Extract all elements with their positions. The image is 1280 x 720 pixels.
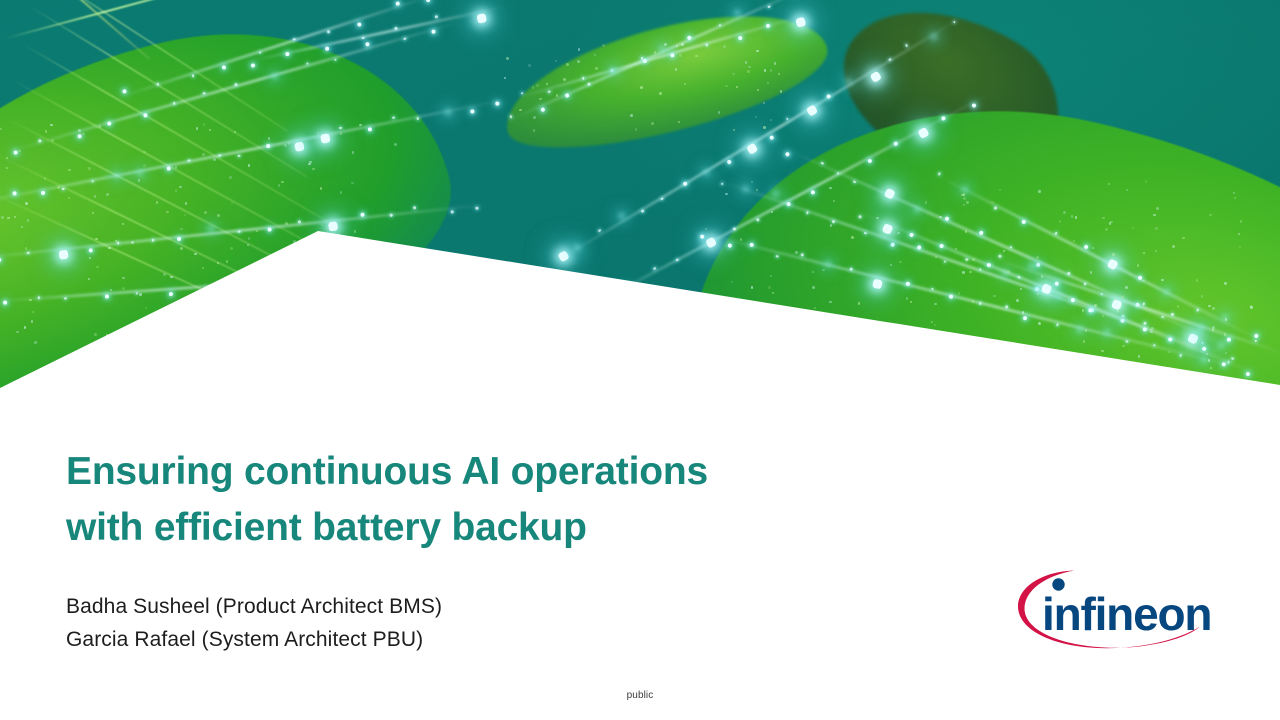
title-slide: Ensuring continuous AI operations with e…	[0, 0, 1280, 720]
classification-label: public	[0, 690, 1280, 701]
author-list: Badha Susheel (Product Architect BMS) Ga…	[66, 590, 766, 656]
page-title: Ensuring continuous AI operations with e…	[66, 444, 946, 556]
hero-banner-image	[0, 0, 1280, 392]
author-line-1: Badha Susheel (Product Architect BMS)	[66, 590, 766, 623]
author-line-2: Garcia Rafael (System Architect PBU)	[66, 623, 766, 656]
slide-content: Ensuring continuous AI operations with e…	[0, 392, 1280, 720]
logo-wordmark: infineon	[1042, 588, 1211, 640]
infineon-logo: infineon	[1012, 560, 1212, 660]
